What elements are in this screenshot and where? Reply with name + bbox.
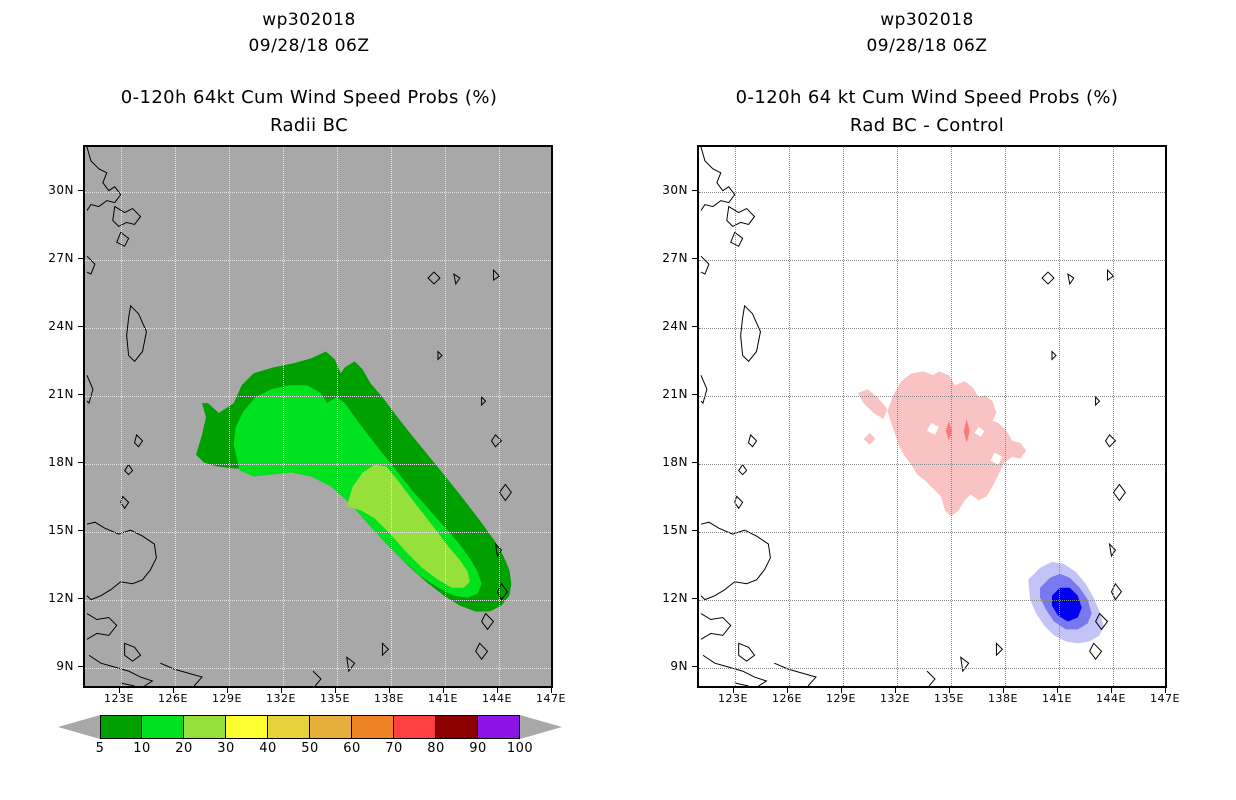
gridline-lat-27n [85,260,551,261]
gridline-lon-123e-r [735,147,736,686]
ytick-left-7: 9N [34,659,74,673]
left-subtitle: Radii BC [0,115,618,136]
ytick-left-5: 15N [34,523,74,537]
ytick-right-7: 9N [648,659,688,673]
ytick-left-2: 24N [34,319,74,333]
panel-radii-bc: wp302018 09/28/18 06Z 0-120h 64kt Cum Wi… [0,0,618,800]
map-plot-left [83,145,553,688]
xtick-right-5: 138E [982,692,1024,705]
gridline-lat-9n-r [699,668,1165,669]
xtick-left-1: 126E [152,692,194,705]
ytick-left-4: 18N [34,455,74,469]
colorbar-left-under-arrow [58,715,100,739]
colorbar-cell-10-20 [142,715,184,739]
xtick-right-8: 147E [1144,692,1186,705]
xtick-right-4: 135E [928,692,970,705]
gridline-lon-132e-r [897,147,898,686]
gridline-lat-21n-r [699,396,1165,397]
colorbar-left-tick-8: 80 [413,741,459,756]
colorbar-cell-40-50 [268,715,310,739]
gridline-lon-126e-r [789,147,790,686]
xtick-right-1: 126E [766,692,808,705]
xtick-left-0: 123E [98,692,140,705]
xtick-left-8: 147E [530,692,572,705]
colorbar-cell-20-30 [184,715,226,739]
gridline-lat-18n-r [699,464,1165,465]
xtick-right-6: 141E [1036,692,1078,705]
colorbar-cell-90-100 [478,715,520,739]
gridline-lon-135e [337,147,338,686]
gridline-lat-15n [85,532,551,533]
colorbar-left-tick-4: 40 [245,741,291,756]
ytick-right-5: 15N [648,523,688,537]
ytick-right-4: 18N [648,455,688,469]
colorbar-cell-80-90 [436,715,478,739]
gridline-lon-144e [499,147,500,686]
gridline-lat-15n-r [699,532,1165,533]
colorbar-left-tick-9: 90 [455,741,501,756]
colorbar-left-tick-7: 70 [371,741,417,756]
gridline-lat-27n-r [699,260,1165,261]
right-storm-id: wp302018 [618,10,1236,30]
gridline-lon-129e-r [843,147,844,686]
xtick-left-7: 144E [476,692,518,705]
left-datetime: 09/28/18 06Z [0,36,618,56]
gridline-lat-24n-r [699,328,1165,329]
xtick-left-6: 141E [422,692,464,705]
ytick-left-0: 30N [34,183,74,197]
xtick-left-3: 132E [260,692,302,705]
right-coastline-layer [699,147,1165,686]
xtick-right-7: 144E [1090,692,1132,705]
right-subtitle: Rad BC - Control [618,115,1236,136]
gridline-lat-9n [85,668,551,669]
ytick-left-3: 21N [34,387,74,401]
xtick-right-0: 123E [712,692,754,705]
colorbar-left-cells [100,715,520,739]
gridline-lon-141e [445,147,446,686]
gridline-lat-24n [85,328,551,329]
ytick-right-2: 24N [648,319,688,333]
xtick-left-5: 138E [368,692,410,705]
gridline-lon-144e-r [1113,147,1114,686]
colorbar-cell-30-40 [226,715,268,739]
panel-rad-bc-control: wp302018 09/28/18 06Z 0-120h 64 kt Cum W… [618,0,1236,800]
ytick-left-6: 12N [34,591,74,605]
ytick-right-3: 21N [648,387,688,401]
ytick-right-6: 12N [648,591,688,605]
xtick-left-4: 135E [314,692,356,705]
colorbar-left[interactable]: 5 10 20 30 40 50 60 70 80 90 100 [40,710,580,770]
colorbar-left-tick-6: 60 [329,741,375,756]
colorbar-left-tick-3: 30 [203,741,249,756]
gridline-lat-30n [85,192,551,193]
colorbar-left-tick-0: 5 [77,741,123,756]
colorbar-cell-50-60 [310,715,352,739]
xtick-left-2: 129E [206,692,248,705]
gridline-lon-123e [121,147,122,686]
gridline-lon-129e [229,147,230,686]
right-title: 0-120h 64 kt Cum Wind Speed Probs (%) [618,87,1236,108]
ytick-left-1: 27N [34,251,74,265]
ytick-right-0: 30N [648,183,688,197]
left-coastline-layer [85,147,551,686]
gridline-lat-18n [85,464,551,465]
gridline-lon-135e-r [951,147,952,686]
gridline-lat-12n-r [699,600,1165,601]
gridline-lon-141e-r [1059,147,1060,686]
xtick-right-2: 129E [820,692,862,705]
colorbar-left-tick-2: 20 [161,741,207,756]
gridline-lat-12n [85,600,551,601]
left-storm-id: wp302018 [0,10,618,30]
colorbar-cell-60-70 [352,715,394,739]
colorbar-left-over-arrow [520,715,562,739]
gridline-lat-21n [85,396,551,397]
right-datetime: 09/28/18 06Z [618,36,1236,56]
gridline-lon-126e [175,147,176,686]
wind-probability-figure: wp302018 09/28/18 06Z 0-120h 64kt Cum Wi… [0,0,1236,800]
map-plot-right [697,145,1167,688]
gridline-lon-132e [283,147,284,686]
colorbar-cell-70-80 [394,715,436,739]
gridline-lon-138e [391,147,392,686]
colorbar-cell-5-10 [100,715,142,739]
xtick-right-3: 132E [874,692,916,705]
gridline-lon-138e-r [1005,147,1006,686]
colorbar-left-tick-1: 10 [119,741,165,756]
ytick-right-1: 27N [648,251,688,265]
colorbar-left-tick-5: 50 [287,741,333,756]
left-title: 0-120h 64kt Cum Wind Speed Probs (%) [0,87,618,108]
colorbar-left-tick-10: 100 [497,741,543,756]
gridline-lat-30n-r [699,192,1165,193]
